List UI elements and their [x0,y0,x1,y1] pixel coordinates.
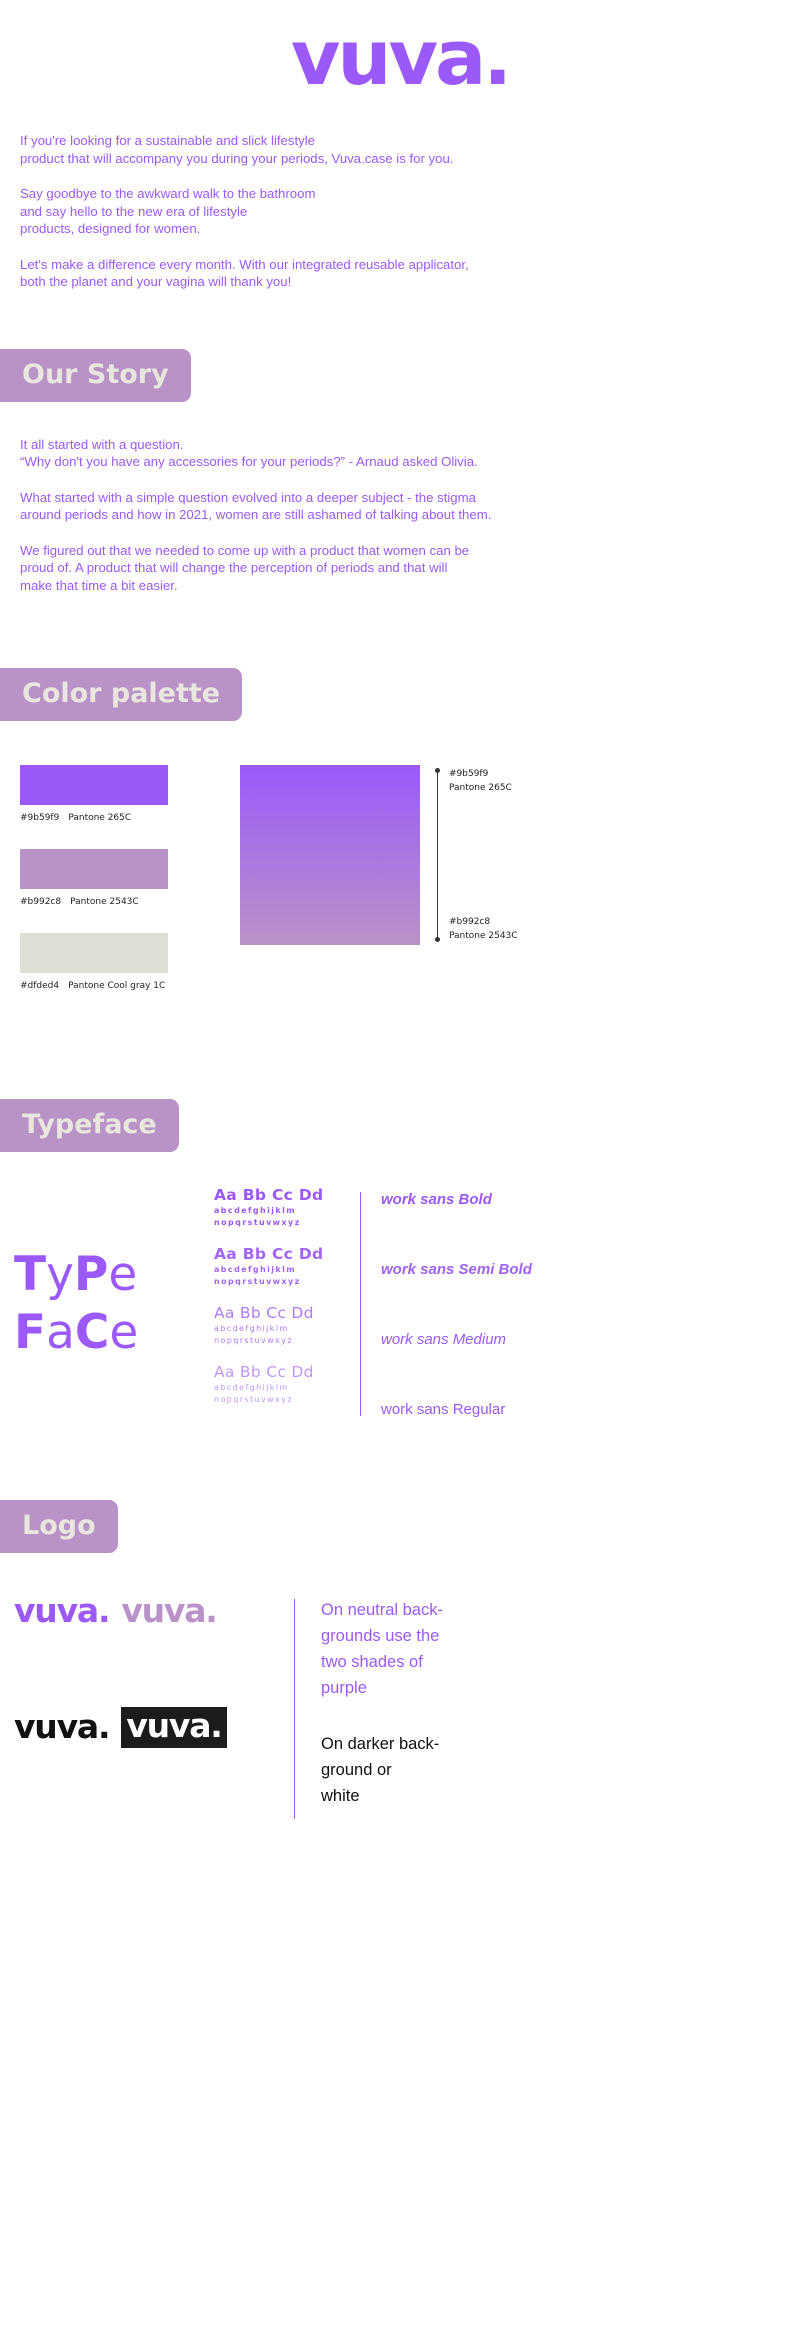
display-char: y [46,1247,74,1302]
swatch-hex: #9b59f9 [20,813,59,823]
typeface-section: Typeface TyPe FaCe Aa Bb Cc Dd abcdefghi… [0,1099,800,1422]
annotation-line [437,771,438,939]
swatch-item: #9b59f9Pantone 265C [20,765,195,823]
annotation-endpoint-top-icon [435,768,440,773]
specimen-row-regular: Aa Bb Cc Dd abcdefghijklm nopqrstuvwxyz [214,1363,346,1405]
swatch-item: #dfded4Pantone Cool gray 1C [20,933,195,991]
swatch-label: #b992c8Pantone 2543C [20,897,195,907]
typeface-divider [360,1192,361,1416]
annotation-endpoint-bottom-icon [435,937,440,942]
gradient-annotation: #9b59f9 Pantone 265C #b992c8 Pantone 254… [433,765,623,945]
display-char: e [108,1247,137,1302]
swatch-hex: #dfded4 [20,981,59,991]
specimen-list: Aa Bb Cc Dd abcdefghijklm nopqrstuvwxyz … [214,1186,346,1422]
swatch-pantone: Pantone 2543C [70,897,139,907]
display-char: C [75,1305,110,1360]
weight-label-medium: work sans Medium [381,1330,800,1349]
typeface-content: TyPe FaCe Aa Bb Cc Dd abcdefghijklm nopq… [0,1152,800,1422]
display-char: e [109,1305,138,1360]
logo-content: vuva. vuva. vuva. vuva. On neutral back-… [0,1553,800,1839]
brand-header: vuva. [0,0,800,106]
specimen-lowercase-2: nopqrstuvwxyz [214,1276,346,1288]
logo-row-dark-backgrounds: vuva. vuva. [14,1707,284,1747]
intro-paragraph-3: Let's make a difference every month. Wit… [20,256,780,291]
swatch-chip-secondary [20,849,168,889]
specimen-lowercase-2: nopqrstuvwxyz [214,1335,346,1347]
logo-variant-lilac: vuva. [121,1593,216,1629]
section-banner-logo: Logo [0,1500,118,1553]
specimen-row-semibold: Aa Bb Cc Dd abcdefghijklm nopqrstuvwxyz [214,1245,346,1287]
story-banner-row: Our Story [0,349,800,402]
logo-note-neutral-backgrounds: On neutral back- grounds use the two sha… [321,1597,780,1701]
swatch-chip-neutral [20,933,168,973]
gradient-top-label: #9b59f9 Pantone 265C [449,767,512,795]
gradient-bottom-label: #b992c8 Pantone 2543C [449,915,518,943]
specimen-caps: Aa Bb Cc Dd [214,1186,346,1205]
specimen-lowercase-1: abcdefghijklm [214,1323,346,1335]
story-paragraph-3: We figured out that we needed to come up… [20,542,770,595]
specimen-caps: Aa Bb Cc Dd [214,1363,346,1382]
display-char: F [14,1305,46,1360]
specimen-lowercase-2: nopqrstuvwxyz [214,1394,346,1406]
display-char: P [74,1247,108,1302]
story-paragraph-2: What started with a simple question evol… [20,489,770,524]
story-body: It all started with a question. “Why don… [0,402,800,595]
gradient-block [240,765,420,945]
story-paragraph-1: It all started with a question. “Why don… [20,436,770,471]
palette-section: Color palette #9b59f9Pantone 265C #b992c… [0,668,800,1017]
specimen-row-bold: Aa Bb Cc Dd abcdefghijklm nopqrstuvwxyz [214,1186,346,1228]
swatch-pantone: Pantone Cool gray 1C [68,981,165,991]
logo-variant-white-on-black: vuva. [121,1707,226,1747]
swatch-label: #dfded4Pantone Cool gray 1C [20,981,195,991]
section-banner-color-palette: Color palette [0,668,242,721]
logo-note-dark-backgrounds: On darker back- ground or white [321,1731,780,1809]
intro-paragraph-1: If you're looking for a sustainable and … [20,132,780,167]
specimen-caps: Aa Bb Cc Dd [214,1245,346,1264]
logo-row-light-backgrounds: vuva. vuva. [14,1593,284,1629]
intro-section: If you're looking for a sustainable and … [0,106,800,291]
display-char: T [14,1247,46,1302]
palette-content: #9b59f9Pantone 265C #b992c8Pantone 2543C… [0,721,800,1017]
specimen-lowercase-1: abcdefghijklm [214,1205,346,1217]
display-char: a [46,1305,75,1360]
logo-variant-purple: vuva. [14,1593,109,1629]
typeface-display-sample: TyPe FaCe [14,1246,214,1362]
gradient-demo: #9b59f9 Pantone 265C #b992c8 Pantone 254… [240,765,623,945]
logo-usage-notes: On neutral back- grounds use the two sha… [321,1593,780,1839]
typeface-display-line-2: FaCe [14,1304,214,1362]
weight-label-bold: work sans Bold [381,1190,800,1209]
typeface-display-line-1: TyPe [14,1246,214,1304]
swatch-item: #b992c8Pantone 2543C [20,849,195,907]
intro-paragraph-2: Say goodbye to the awkward walk to the b… [20,185,780,238]
annotation-axis [433,765,443,945]
logo-banner-row: Logo [0,1500,800,1553]
section-banner-typeface: Typeface [0,1099,179,1152]
brand-wordmark: vuva. [291,20,509,96]
weight-label-regular: work sans Regular [381,1400,800,1419]
logo-variant-list: vuva. vuva. vuva. vuva. [14,1593,284,1839]
specimen-lowercase-2: nopqrstuvwxyz [214,1217,346,1229]
typeface-banner-row: Typeface [0,1099,800,1152]
logo-section: Logo vuva. vuva. vuva. vuva. On neutral … [0,1500,800,1839]
specimen-lowercase-1: abcdefghijklm [214,1264,346,1276]
logo-variant-black: vuva. [14,1709,109,1745]
story-section: Our Story It all started with a question… [0,349,800,595]
annotation-labels: #9b59f9 Pantone 265C #b992c8 Pantone 254… [443,765,623,945]
specimen-caps: Aa Bb Cc Dd [214,1304,346,1323]
swatch-label: #9b59f9Pantone 265C [20,813,195,823]
specimen-lowercase-1: abcdefghijklm [214,1382,346,1394]
specimen-row-medium: Aa Bb Cc Dd abcdefghijklm nopqrstuvwxyz [214,1304,346,1346]
logo-divider [294,1599,295,1819]
swatch-pantone: Pantone 265C [68,813,131,823]
swatch-list: #9b59f9Pantone 265C #b992c8Pantone 2543C… [20,765,195,1017]
swatch-chip-primary [20,765,168,805]
palette-banner-row: Color palette [0,668,800,721]
weight-label-list: work sans Bold work sans Semi Bold work … [381,1190,800,1419]
section-banner-our-story: Our Story [0,349,191,402]
weight-label-semibold: work sans Semi Bold [381,1260,800,1279]
swatch-hex: #b992c8 [20,897,61,907]
